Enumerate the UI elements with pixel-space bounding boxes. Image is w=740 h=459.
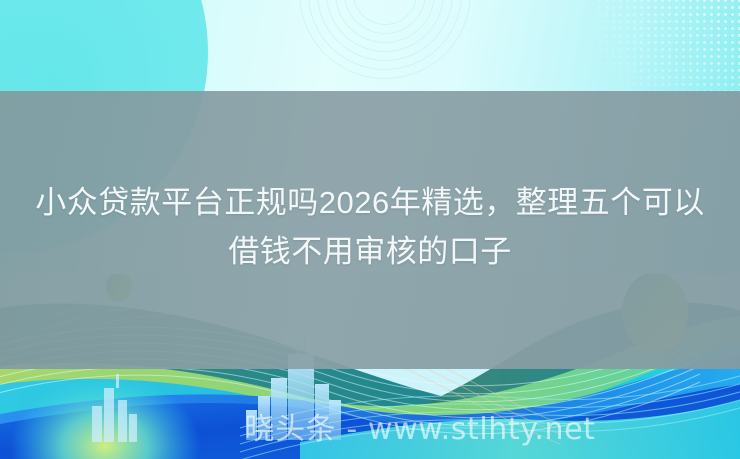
cover-image-canvas: 小众贷款平台正规吗2026年精选，整理五个可以借钱不用审核的口子 晓头条 - w… [0, 0, 740, 459]
page-title: 小众贷款平台正规吗2026年精选，整理五个可以借钱不用审核的口子 [0, 178, 740, 276]
concentric-arcs-decoration [300, 0, 470, 78]
